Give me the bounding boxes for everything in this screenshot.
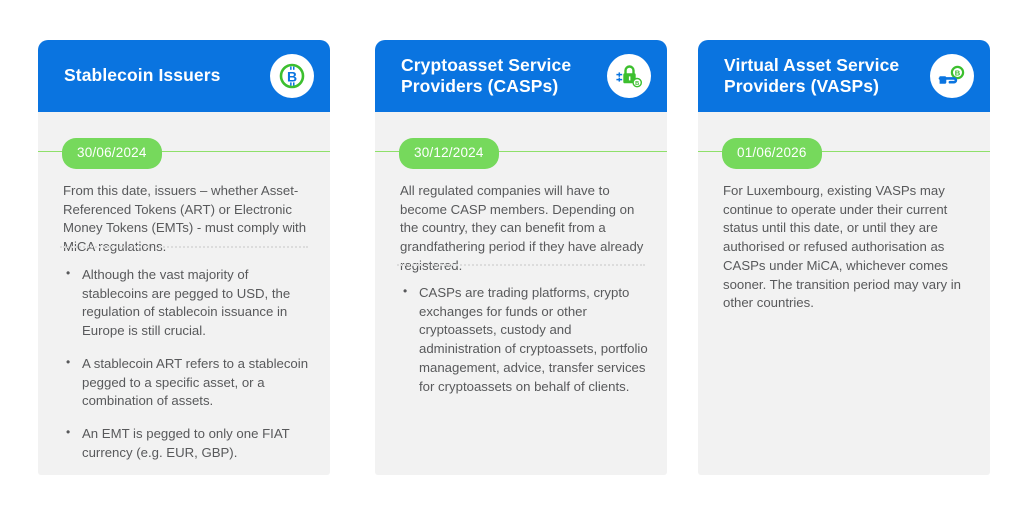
padlock-bitcoin-icon: B [607, 54, 651, 98]
date-badge: 30/06/2024 [62, 138, 162, 169]
card-header: Virtual Asset Service Providers (VASPs) … [698, 40, 990, 112]
list-item: CASPs are trading platforms, crypto exch… [401, 284, 649, 396]
card-header: Cryptoasset Service Providers (CASPs) B [375, 40, 667, 112]
dotted-separator [397, 264, 645, 266]
card-cryptoasset-service-providers: Cryptoasset Service Providers (CASPs) B [375, 40, 667, 475]
card-bullet-list: CASPs are trading platforms, crypto exch… [401, 284, 649, 410]
card-title: Stablecoin Issuers [64, 65, 270, 86]
dotted-separator [60, 246, 308, 248]
svg-text:B: B [955, 69, 961, 78]
card-header: Stablecoin Issuers B [38, 40, 330, 112]
date-badge: 30/12/2024 [399, 138, 499, 169]
card-stablecoin-issuers: Stablecoin Issuers B 30/06/2024 From thi… [38, 40, 330, 475]
hand-holding-coin-icon: B [930, 54, 974, 98]
list-item: Although the vast majority of stablecoin… [64, 266, 312, 341]
list-item: A stablecoin ART refers to a stablecoin … [64, 355, 312, 411]
svg-text:B: B [287, 69, 297, 85]
bitcoin-circle-icon: B [270, 54, 314, 98]
card-intro-text: All regulated companies will have to bec… [400, 182, 645, 276]
card-body: 30/06/2024 From this date, issuers – whe… [38, 112, 330, 475]
date-badge: 01/06/2026 [722, 138, 822, 169]
card-intro-text: For Luxembourg, existing VASPs may conti… [723, 182, 968, 313]
card-bullet-list: Although the vast majority of stablecoin… [64, 266, 312, 477]
card-title: Cryptoasset Service Providers (CASPs) [401, 55, 607, 98]
svg-text:B: B [635, 81, 639, 87]
card-virtual-asset-service-providers: Virtual Asset Service Providers (VASPs) … [698, 40, 990, 475]
card-body: 01/06/2026 For Luxembourg, existing VASP… [698, 112, 990, 475]
card-title: Virtual Asset Service Providers (VASPs) [724, 55, 930, 98]
infographic-board: Stablecoin Issuers B 30/06/2024 From thi… [0, 0, 1024, 520]
list-item: An EMT is pegged to only one FIAT curren… [64, 425, 312, 462]
card-body: 30/12/2024 All regulated companies will … [375, 112, 667, 475]
